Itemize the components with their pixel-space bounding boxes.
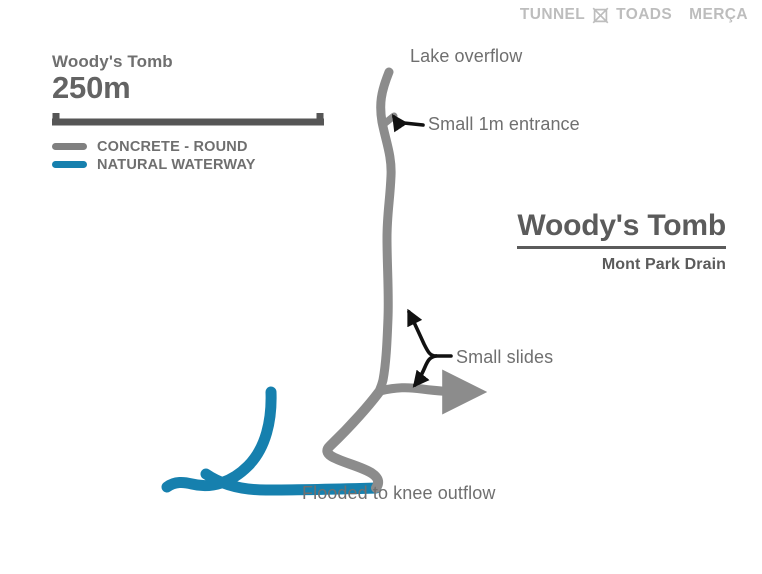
map-label-lake-overflow: Lake overflow bbox=[410, 46, 522, 67]
brand-name-tunnel: TUNNEL bbox=[520, 7, 585, 23]
scale-block: Woody's Tomb 250m bbox=[52, 52, 342, 127]
brand-header: TUNNEL TOADS MERÇA bbox=[520, 6, 748, 23]
page-subtitle: Mont Park Drain bbox=[517, 256, 726, 274]
scale-bar-icon bbox=[52, 111, 324, 127]
natural-waterway-path bbox=[167, 392, 376, 490]
legend: CONCRETE - ROUND NATURAL WATERWAY bbox=[52, 138, 256, 174]
page-title: Woody's Tomb bbox=[517, 208, 726, 249]
drain-map-canvas: TUNNEL TOADS MERÇA Woody's Tomb 250m CON… bbox=[0, 0, 762, 574]
legend-label-waterway: NATURAL WATERWAY bbox=[97, 157, 256, 173]
map-label-flooded-outflow: Flooded to knee outflow bbox=[302, 483, 495, 504]
legend-item-concrete: CONCRETE - ROUND bbox=[52, 138, 256, 155]
brand-name-toads: TOADS bbox=[616, 7, 672, 23]
legend-swatch-concrete bbox=[52, 143, 87, 150]
scale-distance-value: 250m bbox=[52, 71, 342, 106]
scale-location-name: Woody's Tomb bbox=[52, 52, 342, 72]
legend-swatch-waterway bbox=[52, 161, 87, 168]
title-block: Woody's Tomb Mont Park Drain bbox=[517, 208, 726, 274]
legend-item-waterway: NATURAL WATERWAY bbox=[52, 156, 256, 173]
crossed-square-logo-icon bbox=[592, 7, 609, 24]
annotation-arrows bbox=[394, 117, 451, 385]
legend-label-concrete: CONCRETE - ROUND bbox=[97, 139, 248, 155]
map-label-small-entrance: Small 1m entrance bbox=[428, 114, 580, 135]
map-label-small-slides: Small slides bbox=[456, 347, 553, 368]
brand-name-merca: MERÇA bbox=[689, 7, 748, 23]
